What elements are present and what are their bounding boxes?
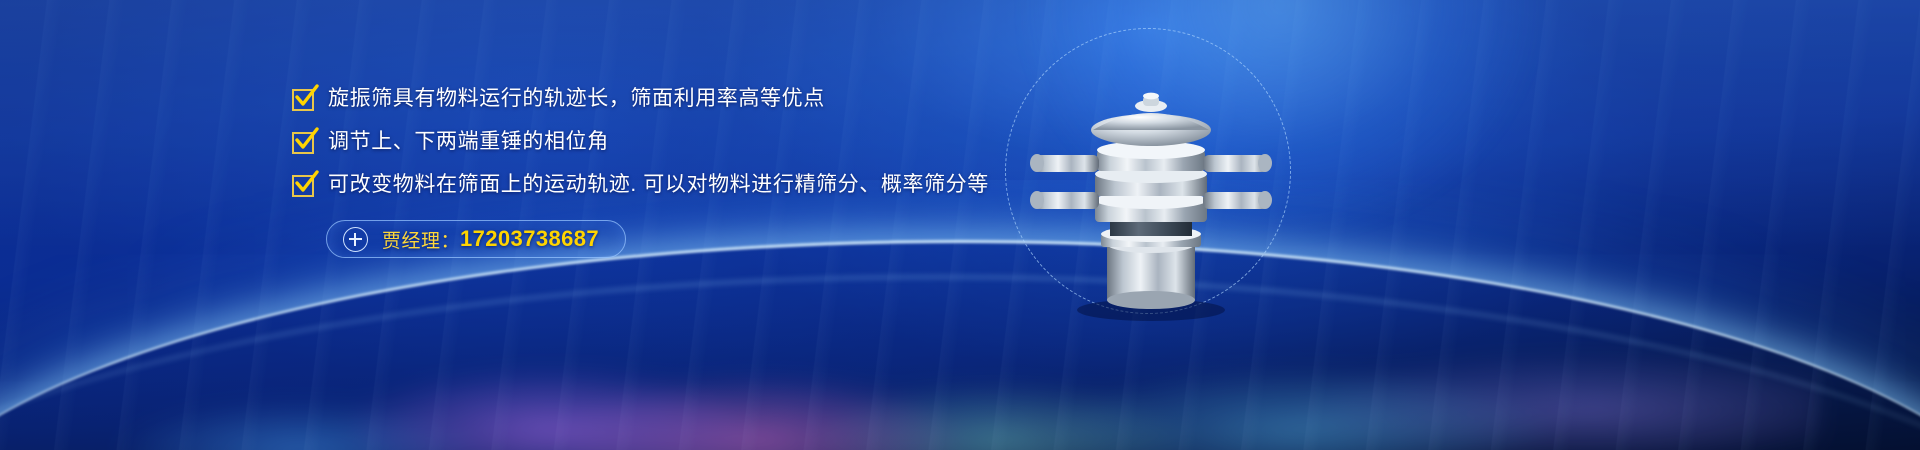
feature-text: 调节上、下两端重锤的相位角 xyxy=(328,129,609,155)
list-item: 可改变物料在筛面上的运动轨迹. 可以对物料进行精筛分、概率筛分等 xyxy=(292,172,1012,198)
arc-outer xyxy=(0,276,1920,450)
feature-list: 旋振筛具有物料运行的轨迹长，筛面利用率高等优点 调节上、下两端重锤的相位角 可改… xyxy=(292,86,1012,215)
bottom-arc-decoration xyxy=(0,180,1920,450)
rotary-vibrating-sieve-illustration xyxy=(1011,58,1291,323)
light-rays-decoration xyxy=(0,0,1920,450)
arc-inner xyxy=(0,240,1920,450)
contact-phone[interactable]: 17203738687 xyxy=(460,226,599,252)
promo-banner: 旋振筛具有物料运行的轨迹长，筛面利用率高等优点 调节上、下两端重锤的相位角 可改… xyxy=(0,0,1920,450)
contact-name: 贾经理： xyxy=(382,226,460,253)
check-box-icon xyxy=(292,89,314,111)
list-item: 调节上、下两端重锤的相位角 xyxy=(292,129,1012,155)
plus-circle-icon xyxy=(343,227,368,252)
feature-text: 旋振筛具有物料运行的轨迹长，筛面利用率高等优点 xyxy=(328,86,825,112)
feature-text: 可改变物料在筛面上的运动轨迹. 可以对物料进行精筛分、概率筛分等 xyxy=(328,172,989,198)
contact-button[interactable]: 贾经理： 17203738687 xyxy=(326,220,626,258)
list-item: 旋振筛具有物料运行的轨迹长，筛面利用率高等优点 xyxy=(292,86,1012,112)
aurora-glow xyxy=(120,290,1820,450)
check-box-icon xyxy=(292,132,314,154)
check-box-icon xyxy=(292,175,314,197)
product-image xyxy=(1005,28,1305,328)
